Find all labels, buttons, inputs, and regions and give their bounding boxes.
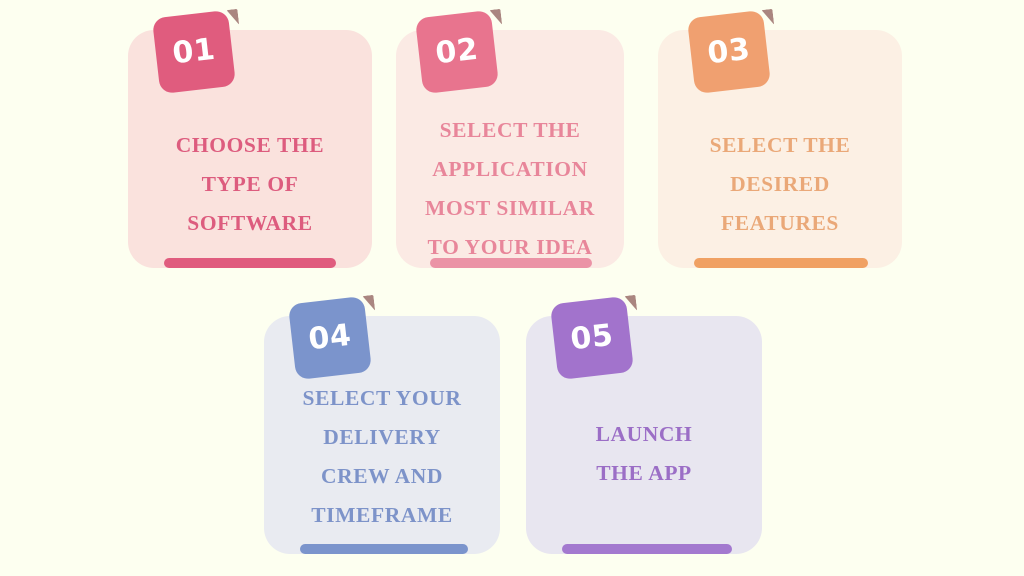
step-card-2-title: SELECT THE APPLICATION MOST SIMILAR TO Y… bbox=[404, 111, 616, 268]
step-card-2-accent-bar bbox=[430, 258, 592, 268]
step-badge-2-number: 02 bbox=[415, 10, 499, 94]
step-card-3[interactable]: SELECT THE DESIRED FEATURES 03 bbox=[658, 30, 902, 268]
step-card-4-title: SELECT YOUR DELIVERY CREW AND TIMEFRAME bbox=[272, 379, 492, 536]
step-card-5-accent-bar bbox=[562, 544, 732, 554]
step-badge-3-number: 03 bbox=[687, 10, 771, 94]
step-card-1-title: CHOOSE THE TYPE OF SOFTWARE bbox=[136, 126, 364, 243]
step-card-3-accent-bar bbox=[694, 258, 868, 268]
step-badge-5[interactable]: 05 bbox=[550, 296, 634, 380]
step-badge-2[interactable]: 02 bbox=[415, 10, 499, 94]
step-card-4[interactable]: SELECT YOUR DELIVERY CREW AND TIMEFRAME … bbox=[264, 316, 500, 554]
step-card-5[interactable]: LAUNCH THE APP 05 bbox=[526, 316, 762, 554]
step-card-2[interactable]: SELECT THE APPLICATION MOST SIMILAR TO Y… bbox=[396, 30, 624, 268]
step-badge-1-number: 01 bbox=[152, 10, 236, 94]
step-badge-5-number: 05 bbox=[550, 296, 634, 380]
step-card-1[interactable]: CHOOSE THE TYPE OF SOFTWARE 01 bbox=[128, 30, 372, 268]
step-badge-4[interactable]: 04 bbox=[288, 296, 372, 380]
step-card-5-title: LAUNCH THE APP bbox=[534, 415, 754, 493]
step-card-3-title: SELECT THE DESIRED FEATURES bbox=[666, 126, 894, 243]
step-badge-4-number: 04 bbox=[288, 296, 372, 380]
step-card-4-accent-bar bbox=[300, 544, 468, 554]
step-badge-1[interactable]: 01 bbox=[152, 10, 236, 94]
step-card-1-accent-bar bbox=[164, 258, 336, 268]
steps-diagram: CHOOSE THE TYPE OF SOFTWARE 01 SELECT TH… bbox=[0, 0, 1024, 576]
step-badge-3[interactable]: 03 bbox=[687, 10, 771, 94]
